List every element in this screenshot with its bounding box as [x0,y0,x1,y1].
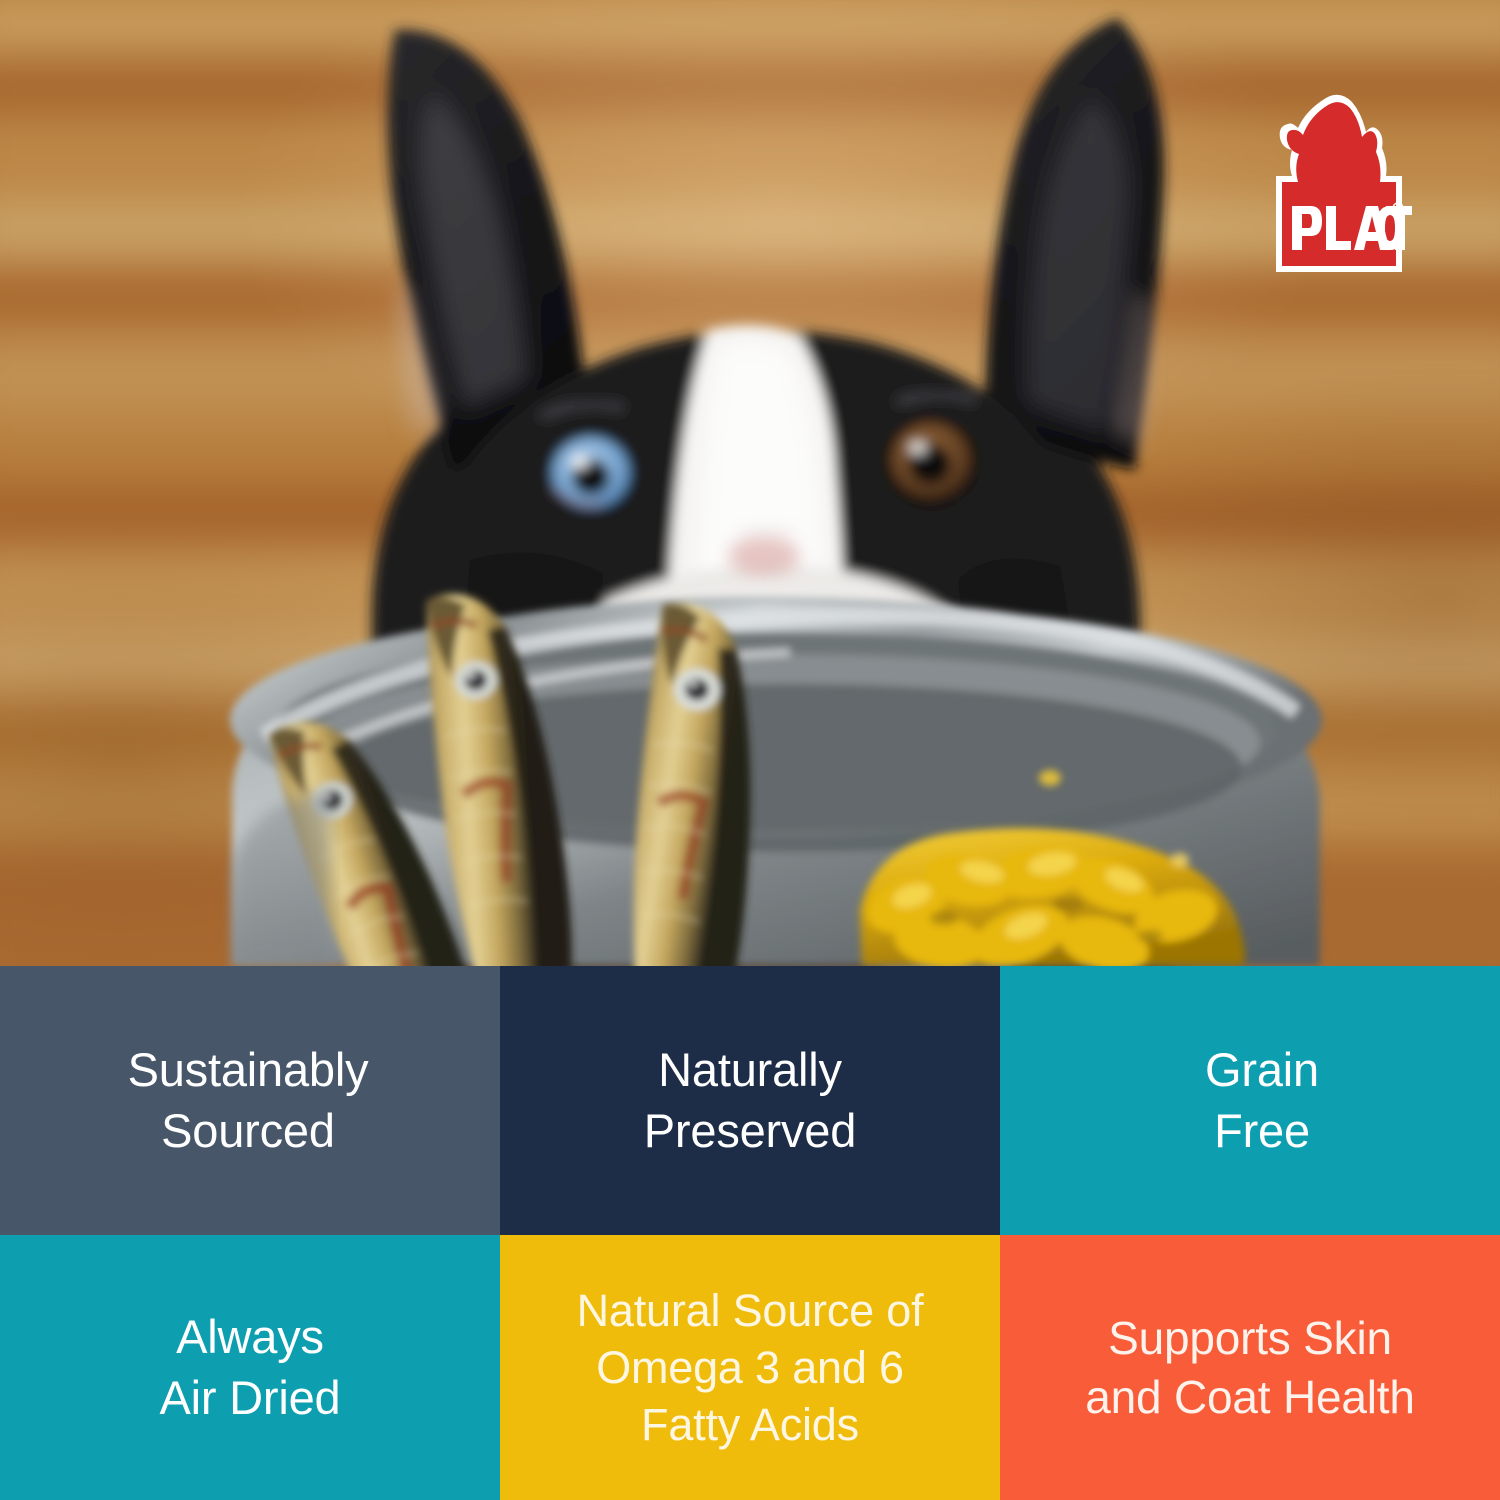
benefit-tile-skin-and-coat-health: Supports Skin and Coat Health [1000,1235,1500,1500]
benefit-tile-always-air-dried: Always Air Dried [0,1235,500,1500]
hero-photo: R [0,0,1500,966]
benefit-tile-naturally-preserved: Naturally Preserved [500,966,1000,1235]
benefit-tiles-grid: Sustainably Sourced Naturally Preserved … [0,966,1500,1500]
benefit-label-sustainably-sourced: Sustainably Sourced [128,1040,369,1160]
benefit-label-skin-and-coat-health: Supports Skin and Coat Health [1085,1309,1414,1427]
benefit-tile-grain-free: Grain Free [1000,966,1500,1235]
plato-dog-head-logo: R [1262,88,1412,284]
benefit-tile-omega-fatty-acids: Natural Source of Omega 3 and 6 Fatty Ac… [500,1235,1000,1500]
product-benefits-image: R Sustainably Sourced Naturally Preserve… [0,0,1500,1500]
benefit-label-always-air-dried: Always Air Dried [159,1307,340,1427]
benefit-tile-sustainably-sourced: Sustainably Sourced [0,966,500,1235]
benefit-label-naturally-preserved: Naturally Preserved [644,1040,856,1160]
benefit-label-grain-free: Grain Free [1205,1040,1319,1160]
svg-text:R: R [1396,206,1401,213]
benefit-label-omega-fatty-acids: Natural Source of Omega 3 and 6 Fatty Ac… [577,1282,924,1453]
